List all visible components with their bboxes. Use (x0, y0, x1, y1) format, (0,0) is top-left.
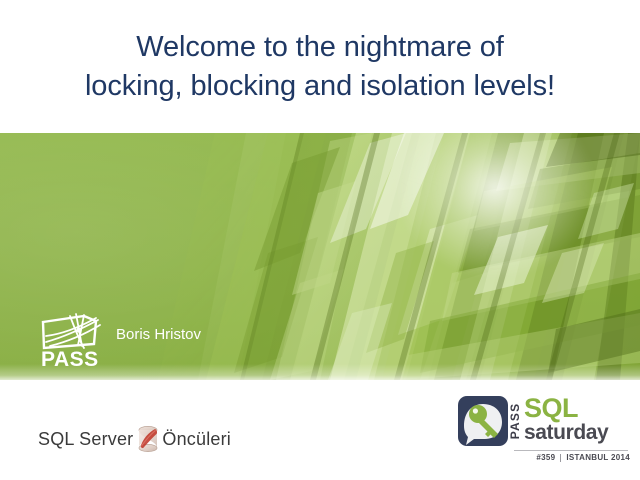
sql-saturday-lockup: PASS SQL saturday (458, 396, 608, 446)
title-line-1: Welcome to the nightmare of (136, 28, 504, 67)
pass-logo: PASS (40, 312, 102, 368)
title-line-2: locking, blocking and isolation levels! (85, 67, 555, 106)
sql-saturday-logo: PASS SQL saturday #359 ISTANBUL 2014 (458, 396, 630, 468)
event-location: ISTANBUL 2014 (566, 453, 630, 462)
svg-text:PASS: PASS (41, 348, 99, 368)
sponsor-text-before: SQL Server (38, 429, 133, 450)
sql-saturday-divider (514, 450, 628, 451)
event-number: #359 (536, 453, 555, 462)
sql-saturday-saturday-text: saturday (524, 422, 608, 444)
oncu-database-mark (135, 425, 161, 453)
slide-title: Welcome to the nightmare of locking, blo… (0, 0, 640, 133)
sql-saturday-wordmark: SQL saturday (524, 396, 608, 444)
event-info-separator (560, 454, 561, 462)
sql-saturday-sql-text: SQL (524, 396, 608, 421)
sql-saturday-pass-label: PASS (508, 396, 522, 446)
presenter-block: PASS Boris Hristov (40, 312, 201, 368)
sql-saturday-event-info: #359 ISTANBUL 2014 (516, 453, 630, 462)
sql-saturday-key-badge (458, 396, 508, 446)
sponsor-text-after: Öncüleri (162, 429, 231, 450)
presenter-name: Boris Hristov (116, 326, 201, 343)
presentation-slide: Welcome to the nightmare of locking, blo… (0, 0, 640, 480)
slide-footer: SQL Server (0, 380, 640, 480)
sponsor-logo: SQL Server (38, 424, 231, 454)
